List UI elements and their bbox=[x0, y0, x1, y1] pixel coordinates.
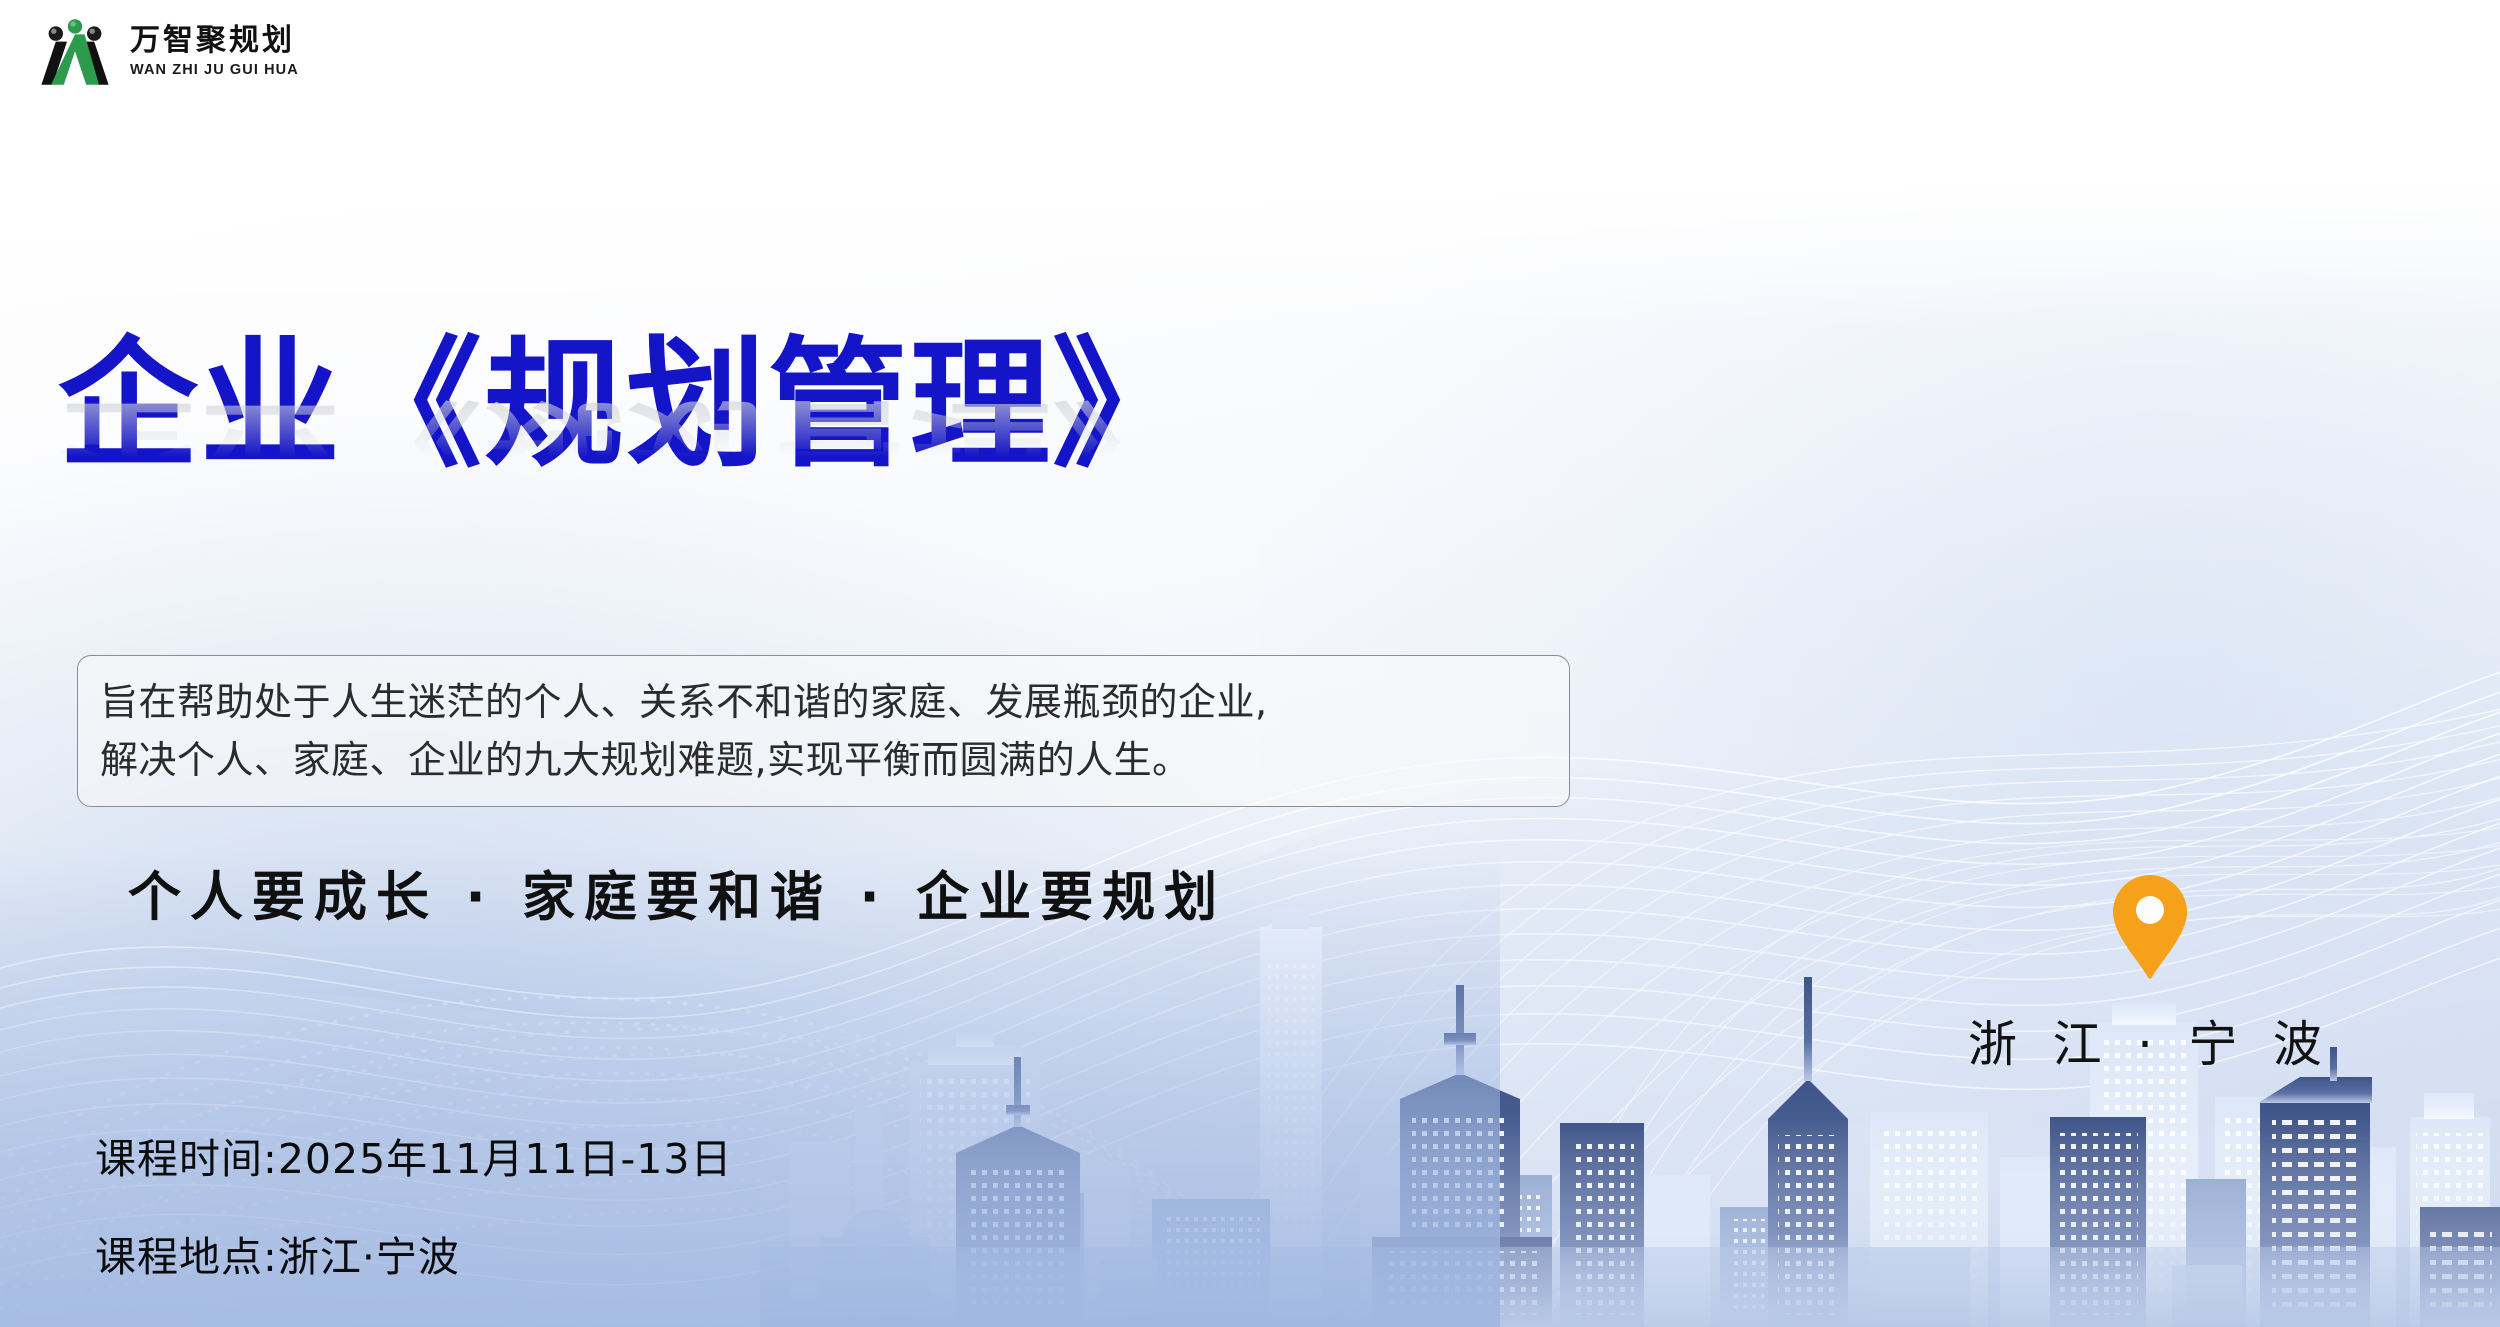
poster-canvas: 万智聚规划 WAN ZHI JU GUI HUA 企业《规划管理》 企业《规划管… bbox=[0, 0, 2500, 1327]
description-box: 旨在帮助处于人生迷茫的个人、关系不和谐的家庭、发展瓶颈的企业, 解决个人、家庭、… bbox=[77, 655, 1570, 807]
three-people-mountain-logo-icon bbox=[34, 16, 116, 88]
course-time: 课程时间:2025年11月11日-13日 bbox=[95, 1125, 732, 1185]
course-place: 课程地点:浙江·宁波 bbox=[95, 1223, 732, 1283]
main-title-block: 企业《规划管理》 企业《规划管理》 bbox=[58, 336, 1194, 622]
page-title-reflection: 企业《规划管理》 bbox=[58, 395, 1194, 482]
background-top-white bbox=[0, 0, 2500, 330]
slogan-text: 个人要成长 · 家庭要和谐 · 企业要规划 bbox=[128, 855, 1226, 931]
map-pin-icon bbox=[2109, 873, 2191, 981]
brand-logo[interactable]: 万智聚规划 WAN ZHI JU GUI HUA bbox=[34, 16, 299, 88]
description-line-2: 解决个人、家庭、企业的九大规划难题,实现平衡而圆满的人生。 bbox=[100, 732, 1547, 790]
brand-logo-text: 万智聚规划 WAN ZHI JU GUI HUA bbox=[130, 26, 299, 78]
description-line-1: 旨在帮助处于人生迷茫的个人、关系不和谐的家庭、发展瓶颈的企业, bbox=[100, 674, 1547, 732]
location-group: 浙 江 · 宁 波 bbox=[1955, 873, 2345, 1076]
location-label: 浙 江 · 宁 波 bbox=[1955, 1005, 2345, 1076]
course-info-block: 课程时间:2025年11月11日-13日 课程地点:浙江·宁波 bbox=[95, 1125, 732, 1283]
brand-name-cn: 万智聚规划 bbox=[130, 26, 299, 56]
brand-name-en: WAN ZHI JU GUI HUA bbox=[130, 63, 299, 78]
